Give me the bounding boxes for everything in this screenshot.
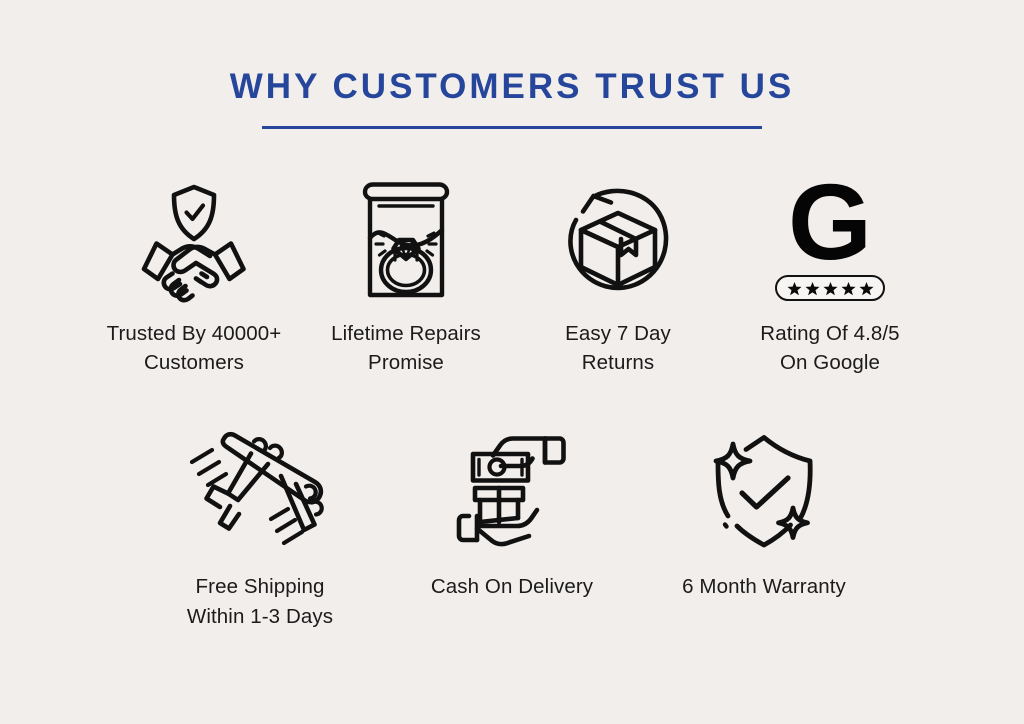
- trust-item-label: Free Shipping Within 1-3 Days: [187, 572, 333, 631]
- shield-check-sparkle-icon: [698, 418, 830, 556]
- google-g-letter: G: [788, 178, 872, 267]
- star-icon: [823, 281, 838, 296]
- trust-item-cash-on-delivery: Cash On Delivery: [386, 418, 638, 602]
- trust-item-label: 6 Month Warranty: [682, 572, 846, 602]
- airplane-icon: [184, 418, 336, 556]
- google-rating-icon: G: [775, 175, 885, 305]
- star-icon: [787, 281, 802, 296]
- trust-item-label: Cash On Delivery: [431, 572, 593, 602]
- trust-item-label: Easy 7 Day Returns: [565, 319, 671, 378]
- trust-item-label: Trusted By 40000+ Customers: [107, 319, 282, 378]
- trust-badges-banner: WHY CUSTOMERS TRUST US: [0, 0, 1024, 724]
- heading-block: WHY CUSTOMERS TRUST US: [230, 68, 794, 129]
- star-icon: [841, 281, 856, 296]
- trust-item-label: Rating Of 4.8/5 On Google: [760, 319, 899, 378]
- status-badge: [775, 275, 885, 301]
- trust-item-google-rating: G Rating Of 4.8/5 On Google: [724, 175, 936, 378]
- trust-row-1: Trusted By 40000+ Customers: [0, 175, 1024, 378]
- trust-item-label: Lifetime Repairs Promise: [331, 319, 481, 378]
- trust-row-2: Free Shipping Within 1-3 Days: [0, 418, 1024, 631]
- google-logo: G: [775, 178, 885, 302]
- box-return-arrow-icon: [554, 175, 682, 305]
- handshake-shield-icon: [128, 175, 260, 305]
- title-underline-divider: [262, 126, 762, 129]
- trust-item-trusted-customers: Trusted By 40000+ Customers: [88, 175, 300, 378]
- trust-item-easy-returns: Easy 7 Day Returns: [512, 175, 724, 378]
- star-icon: [805, 281, 820, 296]
- ring-in-jar-icon: [343, 175, 469, 305]
- cash-on-delivery-icon: [445, 418, 579, 556]
- trust-item-warranty: 6 Month Warranty: [638, 418, 890, 602]
- trust-item-free-shipping: Free Shipping Within 1-3 Days: [134, 418, 386, 631]
- trust-item-lifetime-repairs: Lifetime Repairs Promise: [300, 175, 512, 378]
- page-title: WHY CUSTOMERS TRUST US: [230, 68, 794, 107]
- star-icon: [859, 281, 874, 296]
